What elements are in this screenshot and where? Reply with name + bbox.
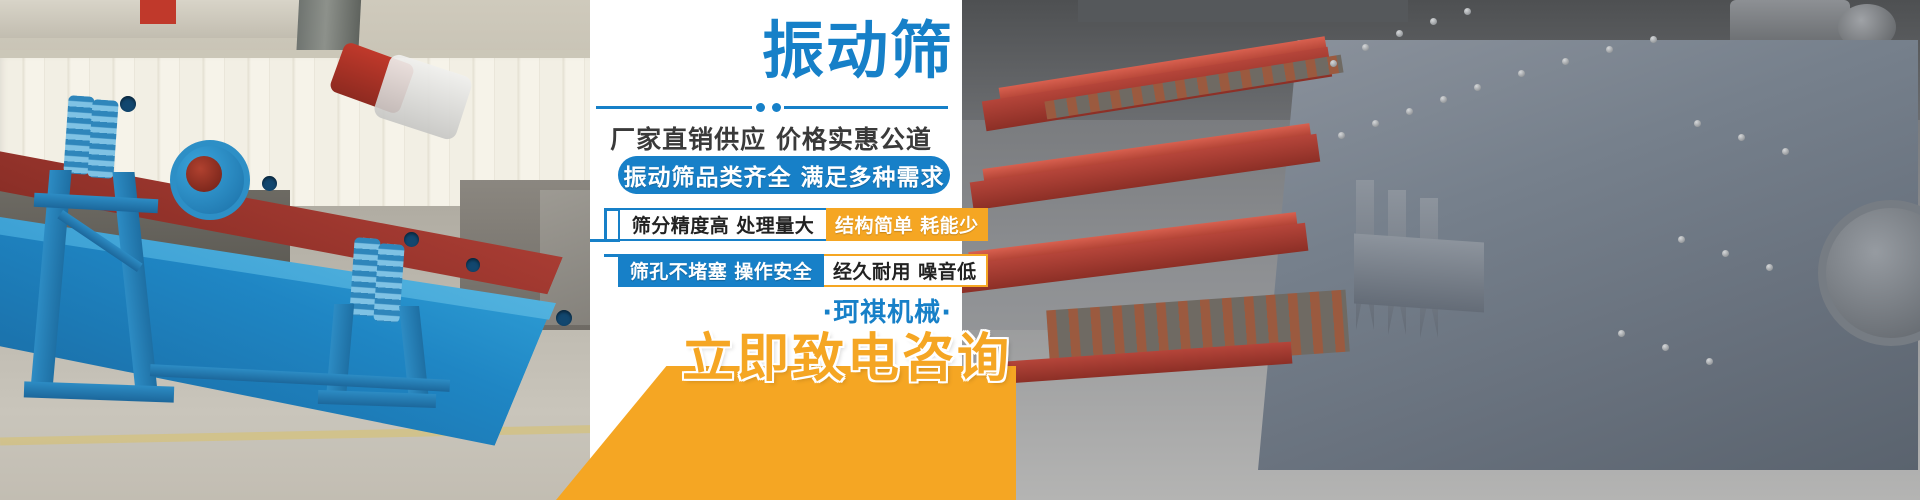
rivet	[1396, 30, 1403, 37]
eccentric-drum-core	[186, 156, 222, 192]
feature-2-right: 经久耐用 噪音低	[824, 254, 988, 287]
right-product-photo	[958, 0, 1920, 500]
feature-1-right: 结构简单 耗能少	[826, 208, 988, 241]
rivet	[1372, 120, 1379, 127]
call-to-action-text: 立即致电咨询	[560, 316, 1018, 380]
wall-sign	[140, 0, 176, 24]
feature-1-left: 筛分精度高 处理量大	[618, 208, 826, 241]
divider-line-right	[784, 106, 948, 109]
rivet	[1518, 70, 1525, 77]
rivet	[1766, 264, 1773, 271]
body-hole	[466, 258, 480, 272]
rivet	[1562, 58, 1569, 65]
rivet	[1782, 148, 1789, 155]
product-banner: 振动筛 厂家直销供应 价格实惠公道 振动筛品类齐全 满足多种需求 筛分精度高 处…	[0, 0, 1920, 500]
rivet	[1406, 108, 1413, 115]
page-title: 振动筛	[590, 16, 954, 86]
rivet	[1464, 8, 1471, 15]
feature-row-2: 筛孔不堵塞 操作安全 经久耐用 噪音低	[618, 254, 950, 287]
rivet	[1606, 46, 1613, 53]
rivet	[1650, 36, 1657, 43]
rivet	[1694, 120, 1701, 127]
rivet	[1662, 344, 1669, 351]
feature-2-left: 筛孔不堵塞 操作安全	[618, 254, 824, 287]
divider-dot-left	[756, 103, 765, 112]
damping-spring	[87, 99, 118, 179]
rivet	[1706, 358, 1713, 365]
divider-line-left	[596, 106, 752, 109]
rivet	[1618, 330, 1625, 337]
rivet	[1338, 132, 1345, 139]
rivet	[1430, 18, 1437, 25]
rivet	[1362, 44, 1369, 51]
title-divider	[596, 102, 948, 112]
body-hole	[262, 176, 277, 191]
rivet	[1678, 236, 1685, 243]
subtitle: 厂家直销供应 价格实惠公道	[590, 120, 952, 156]
body-hole	[404, 232, 419, 247]
overhead-beam	[1078, 0, 1408, 22]
body-hole	[120, 96, 136, 112]
rivet	[1474, 84, 1481, 91]
highlight-pill: 振动筛品类齐全 满足多种需求	[618, 156, 950, 194]
divider-dot-right	[772, 103, 781, 112]
support-bracket-plate	[1354, 233, 1484, 312]
feature-row-1: 筛分精度高 处理量大 结构简单 耗能少	[618, 208, 950, 241]
rivet	[1330, 60, 1337, 67]
rivet	[1738, 134, 1745, 141]
rivet	[1722, 250, 1729, 257]
rivet	[1440, 96, 1447, 103]
feature-connector-1	[590, 208, 620, 252]
